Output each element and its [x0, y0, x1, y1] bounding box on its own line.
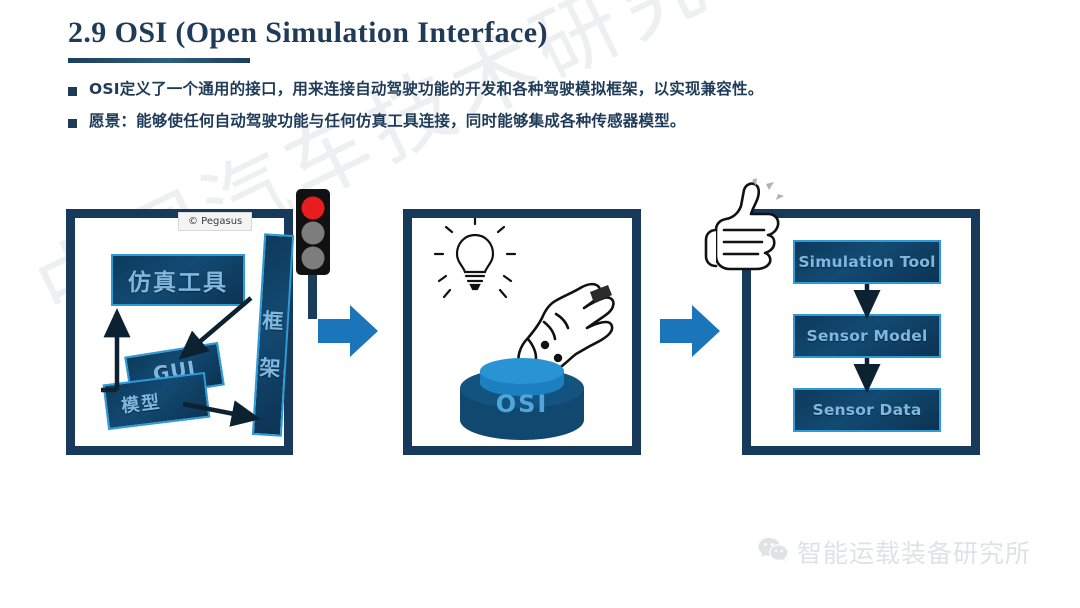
- bullet-text: 愿景：能够使任何自动驾驶功能与任何仿真工具连接，同时能够集成各种传感器模型。: [89, 110, 686, 133]
- diagram-panel-osi-button: OSI: [403, 209, 641, 455]
- bullet-text: OSI定义了一个通用的接口，用来连接自动驾驶功能的开发和各种驾驶模拟框架，以实现…: [89, 78, 763, 101]
- lightbulb: [435, 218, 515, 297]
- panel3-flow-arrows: [751, 218, 971, 446]
- thumbs-up-icon: [700, 178, 784, 279]
- bullet-square-icon: [68, 119, 77, 128]
- bullet-item: 愿景：能够使任何自动驾驶功能与任何仿真工具连接，同时能够集成各种传感器模型。: [68, 110, 763, 133]
- panel1-connector-arrows: [75, 218, 284, 446]
- diagram-panel-simulation-landscape: 仿真工具 框架 GUI 模型 © Pegasus: [66, 209, 293, 455]
- panel2-artwork: OSI: [412, 218, 632, 446]
- push-button: [460, 358, 584, 440]
- title-underline-rule: [68, 58, 250, 63]
- flow-arrow-icon: [660, 303, 722, 364]
- pegasus-credit-label: © Pegasus: [178, 212, 252, 231]
- bullet-list: OSI定义了一个通用的接口，用来连接自动驾驶功能的开发和各种驾驶模拟框架，以实现…: [68, 78, 763, 143]
- flow-arrow-icon: [318, 303, 380, 364]
- bullet-square-icon: [68, 87, 77, 96]
- page-title: 2.9 OSI (Open Simulation Interface): [68, 16, 548, 50]
- bullet-item: OSI定义了一个通用的接口，用来连接自动驾驶功能的开发和各种驾驶模拟框架，以实现…: [68, 78, 763, 101]
